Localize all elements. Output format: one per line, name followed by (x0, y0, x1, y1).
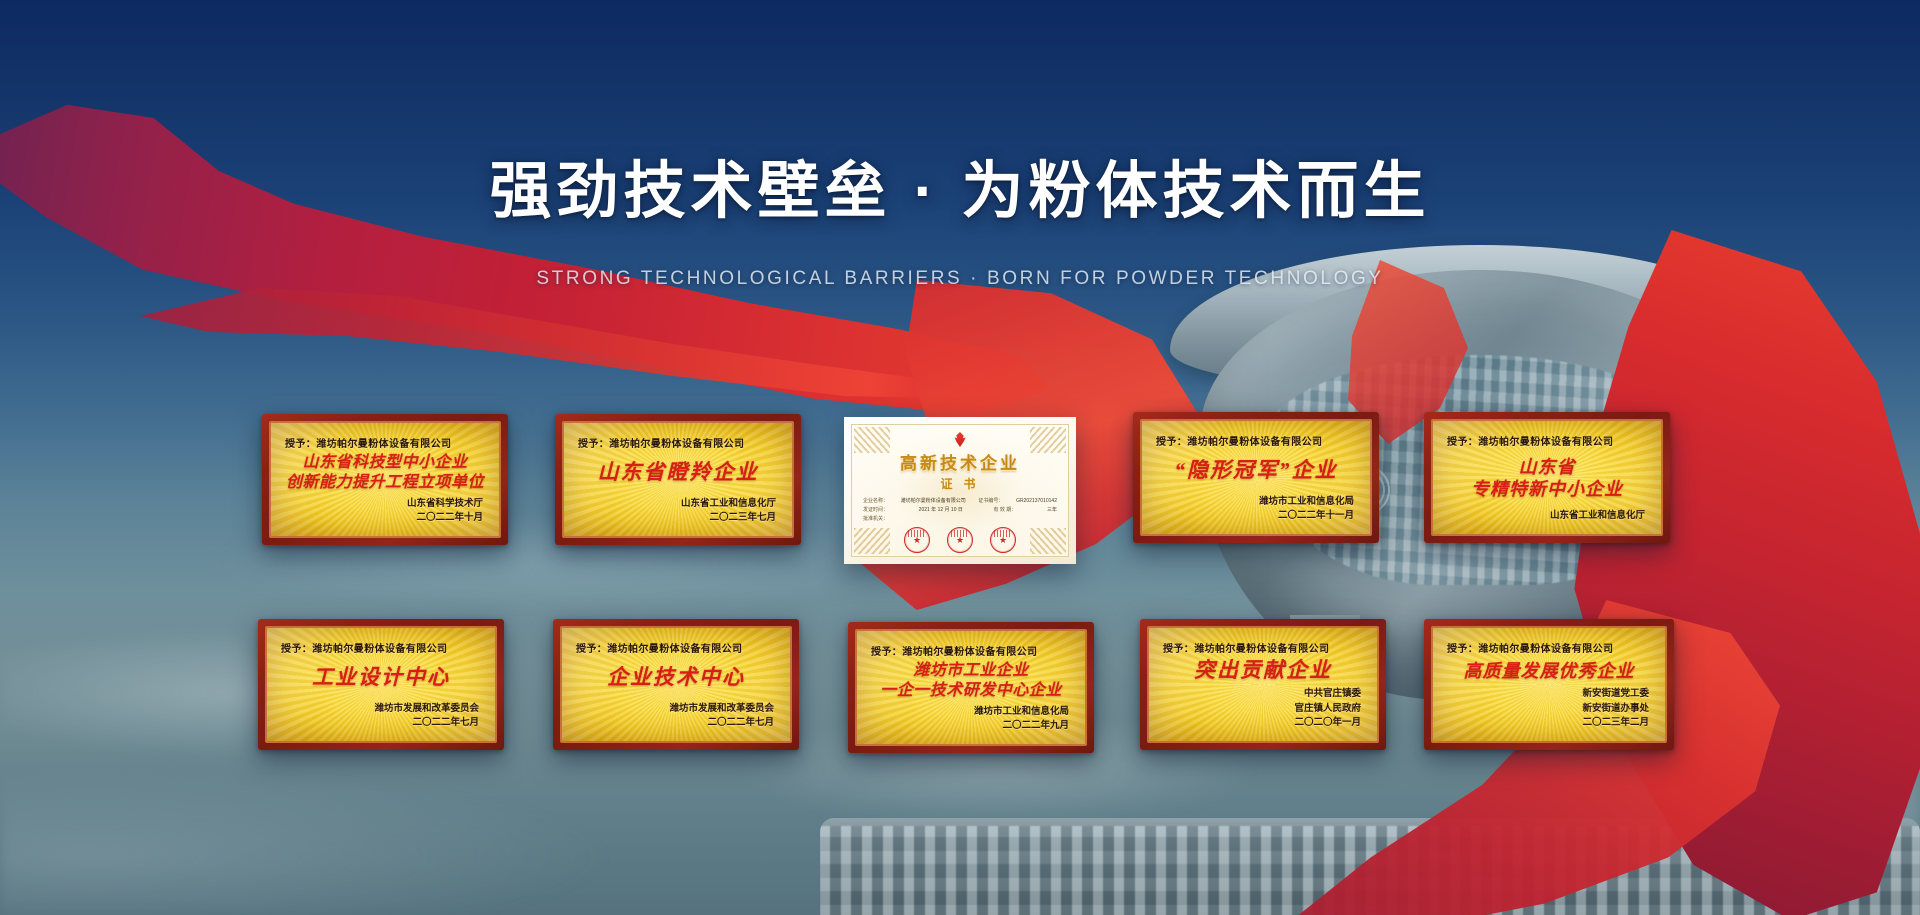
certificate-title: 高新技术企业 (900, 449, 1020, 474)
plaque-title: 潍坊市工业企业 一企一技术研发中心企业 (857, 658, 1085, 705)
plaque-title-line: 山东省科技型中小企业 (302, 454, 467, 472)
plaque-issuer-line: 潍坊市工业和信息化局 (857, 705, 1069, 719)
plaque-issuer: 中共官庄镇委 官庄镇人民政府 二〇二〇年一月 (1149, 687, 1377, 741)
plaque-issuer: 潍坊市工业和信息化局 二〇二二年十一月 (1142, 495, 1370, 535)
plaque-issuer-line: 潍坊市发展和改革委员会 (562, 702, 774, 716)
plaque-issuer: 山东省工业和信息化厅 (1433, 509, 1661, 534)
certificate-corner-ornament (1030, 427, 1066, 453)
high-tech-enterprise-certificate[interactable]: 高新技术企业 证 书 企业名称： 潍坊帕尔曼粉体设备有限公司 证书编号： GR2… (844, 417, 1076, 564)
certificate-field-value: GR202137010142 (1016, 497, 1057, 506)
plaque-title: 工业设计中心 (267, 655, 495, 702)
plaque-card[interactable]: 授予：潍坊帕尔曼粉体设备有限公司 潍坊市工业企业 一企一技术研发中心企业 潍坊市… (848, 622, 1094, 753)
seal-icon (947, 527, 973, 553)
seal-icon (990, 527, 1016, 553)
plaque-title-line: 一企一技术研发中心企业 (880, 682, 1062, 700)
plaque-issuer: 山东省工业和信息化厅 二〇二三年七月 (564, 497, 792, 537)
plaque-grant-line: 授予：潍坊帕尔曼粉体设备有限公司 (562, 640, 790, 655)
plaque-title: 突出贡献企业 (1149, 655, 1377, 687)
plaque-title-line: 企业技术中心 (607, 666, 745, 690)
plaque-issuer-date: 二〇二三年七月 (564, 511, 776, 525)
plaque-issuer: 潍坊市发展和改革委员会 二〇二二年七月 (267, 702, 495, 742)
plaque-issuer-line: 山东省科学技术厅 (271, 497, 483, 511)
certificate-field-key: 证书编号： (978, 497, 1003, 506)
plaque-issuer-date: 二〇二二年七月 (267, 716, 479, 730)
plaque-title-line: 山东省 (1519, 457, 1576, 477)
certificate-field-value: 潍坊帕尔曼粉体设备有限公司 (901, 497, 966, 506)
plaque-card[interactable]: 授予：潍坊帕尔曼粉体设备有限公司 山东省瞪羚企业 山东省工业和信息化厅 二〇二三… (555, 414, 801, 545)
plaque-card[interactable]: 授予：潍坊帕尔曼粉体设备有限公司 高质量发展优秀企业 新安街道党工委 新安街道办… (1424, 619, 1674, 750)
plaque-title-line: “隐形冠军”企业 (1175, 459, 1338, 483)
plaque-grant-line: 授予：潍坊帕尔曼粉体设备有限公司 (1142, 433, 1370, 448)
plaque-issuer-date: 二〇二二年十一月 (1142, 509, 1354, 523)
certificate-field-key: 有 效 期： (994, 506, 1017, 515)
plaque-issuer-line: 新安街道办事处 (1433, 702, 1649, 716)
plaque-title: 企业技术中心 (562, 655, 790, 702)
banner-hero: 强劲技术壁垒 · 为粉体技术而生 STRONG TECHNOLOGICAL BA… (0, 0, 1920, 915)
flame-icon (952, 432, 968, 447)
plaque-issuer-line: 潍坊市工业和信息化局 (1142, 495, 1354, 509)
plaque-title-line: 创新能力提升工程立项单位 (286, 474, 484, 492)
plaque-grant-line: 授予：潍坊帕尔曼粉体设备有限公司 (564, 435, 792, 450)
plaque-issuer-line: 山东省工业和信息化厅 (564, 497, 776, 511)
plaque-grant-line: 授予：潍坊帕尔曼粉体设备有限公司 (267, 640, 495, 655)
certificate-corner-ornament (1030, 528, 1066, 554)
plaque-grant-line: 授予：潍坊帕尔曼粉体设备有限公司 (1149, 640, 1377, 655)
certificate-subtitle: 证 书 (940, 475, 979, 492)
plaque-card[interactable]: 授予：潍坊帕尔曼粉体设备有限公司 山东省 专精特新中小企业 山东省工业和信息化厅 (1424, 412, 1670, 543)
plaque-card[interactable]: 授予：潍坊帕尔曼粉体设备有限公司 山东省科技型中小企业 创新能力提升工程立项单位… (262, 414, 508, 545)
plaque-card[interactable]: 授予：潍坊帕尔曼粉体设备有限公司 工业设计中心 潍坊市发展和改革委员会 二〇二二… (258, 619, 504, 750)
seal-icon (904, 527, 930, 553)
certificate-field-key: 发证时间： (863, 506, 888, 515)
plaque-card[interactable]: 授予：潍坊帕尔曼粉体设备有限公司 “隐形冠军”企业 潍坊市工业和信息化局 二〇二… (1133, 412, 1379, 543)
plaque-card[interactable]: 授予：潍坊帕尔曼粉体设备有限公司 突出贡献企业 中共官庄镇委 官庄镇人民政府 二… (1140, 619, 1386, 750)
plaque-title: 高质量发展优秀企业 (1433, 655, 1665, 687)
certificate-fields: 企业名称： 潍坊帕尔曼粉体设备有限公司 证书编号： GR202137010142… (852, 497, 1068, 523)
plaque-grant-line: 授予：潍坊帕尔曼粉体设备有限公司 (857, 643, 1085, 658)
certificate-field-key: 企业名称： (863, 497, 888, 506)
plaque-title: 山东省瞪羚企业 (564, 450, 792, 497)
plaque-title-line: 高质量发展优秀企业 (1464, 661, 1635, 681)
certificate-corner-ornament (854, 528, 890, 554)
plaque-issuer: 山东省科学技术厅 二〇二二年十月 (271, 497, 499, 537)
plaque-title-line: 潍坊市工业企业 (913, 662, 1029, 680)
certificate-field-value: 三年 (1047, 506, 1057, 515)
certificate-seals (904, 527, 1016, 553)
plaque-issuer: 潍坊市工业和信息化局 二〇二二年九月 (857, 705, 1085, 745)
plaque-title-line: 山东省瞪羚企业 (598, 461, 759, 485)
plaque-grant-line: 授予：潍坊帕尔曼粉体设备有限公司 (271, 435, 499, 450)
plaque-issuer-line: 官庄镇人民政府 (1149, 702, 1361, 716)
plaque-issuer-date: 二〇二二年七月 (562, 716, 774, 730)
plaque-issuer-line: 潍坊市发展和改革委员会 (267, 702, 479, 716)
plaque-card[interactable]: 授予：潍坊帕尔曼粉体设备有限公司 企业技术中心 潍坊市发展和改革委员会 二〇二二… (553, 619, 799, 750)
plaque-issuer-line: 山东省工业和信息化厅 (1433, 509, 1645, 523)
plaque-issuer: 潍坊市发展和改革委员会 二〇二二年七月 (562, 702, 790, 742)
plaque-grant-line: 授予：潍坊帕尔曼粉体设备有限公司 (1433, 433, 1661, 448)
plaque-title: “隐形冠军”企业 (1142, 448, 1370, 495)
plaque-title: 山东省 专精特新中小企业 (1433, 448, 1661, 509)
plaque-title-line: 专精特新中小企业 (1471, 479, 1623, 499)
plaque-issuer-date: 二〇二〇年一月 (1149, 716, 1361, 730)
plaque-issuer: 新安街道党工委 新安街道办事处 二〇二三年二月 (1433, 687, 1665, 741)
plaque-issuer-line: 中共官庄镇委 (1149, 687, 1361, 701)
plaque-issuer-date: 二〇二二年九月 (857, 719, 1069, 733)
plaque-issuer-date: 二〇二三年二月 (1433, 716, 1649, 730)
plaque-title-line: 工业设计中心 (312, 666, 450, 690)
plaque-grant-line: 授予：潍坊帕尔曼粉体设备有限公司 (1433, 640, 1665, 655)
plaque-issuer-line: 新安街道党工委 (1433, 687, 1649, 701)
certificate-gallery: 授予：潍坊帕尔曼粉体设备有限公司 山东省科技型中小企业 创新能力提升工程立项单位… (0, 0, 1920, 915)
certificate-corner-ornament (854, 427, 890, 453)
certificate-field-value: 2021 年 12 月 10 日 (919, 506, 963, 515)
plaque-title-line: 突出贡献企业 (1194, 659, 1332, 683)
plaque-title: 山东省科技型中小企业 创新能力提升工程立项单位 (271, 450, 499, 497)
plaque-issuer-date: 二〇二二年十月 (271, 511, 483, 525)
certificate-field-key: 批准机关： (863, 515, 888, 524)
